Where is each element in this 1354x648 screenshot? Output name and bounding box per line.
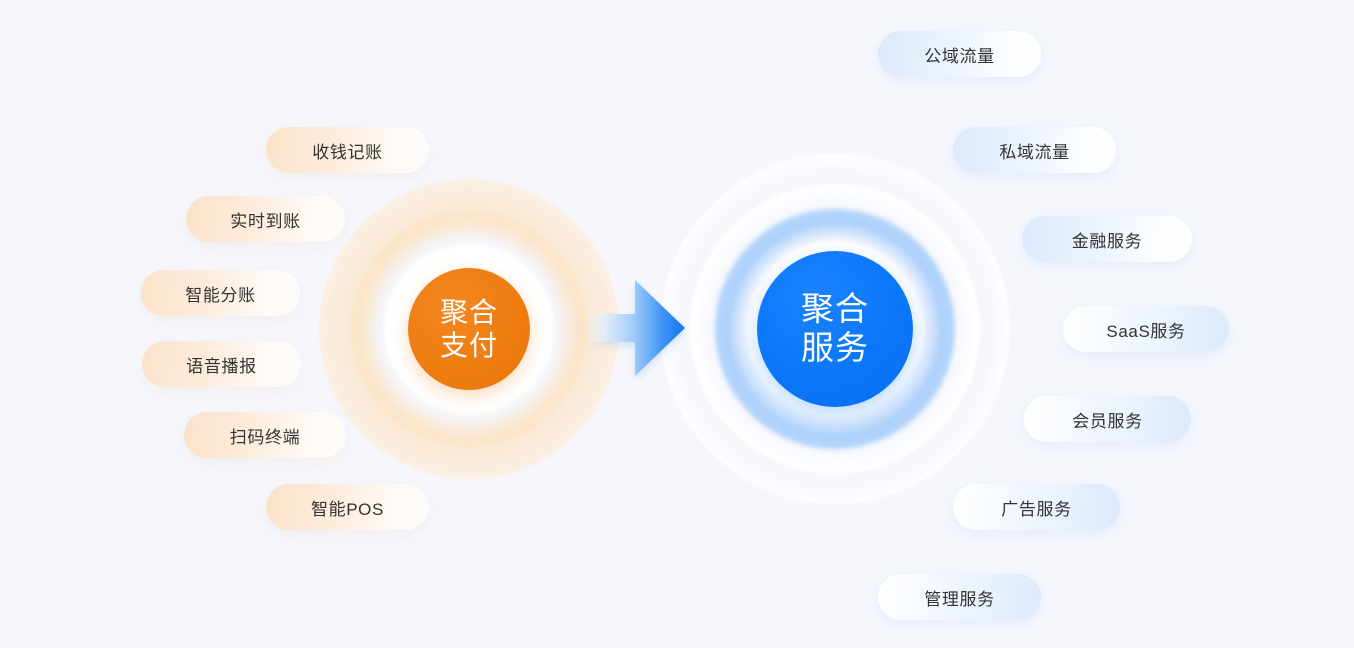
pill-label: 金融服务 [1072, 227, 1142, 252]
service-pill-huiyuanfuwu[interactable]: 会员服务 [1024, 396, 1191, 442]
service-hub-label-line1: 聚合 [801, 290, 869, 329]
capability-pill-zhinengfenzhang[interactable]: 智能分账 [141, 270, 300, 316]
capability-pill-shouqianjizhang[interactable]: 收钱记账 [266, 127, 429, 173]
pill-label: 广告服务 [1001, 495, 1071, 520]
pill-label: 私域流量 [999, 138, 1069, 163]
aggregated-service-hub[interactable]: 聚合 服务 [757, 251, 913, 407]
service-pill-jinrongfuwu[interactable]: 金融服务 [1022, 216, 1192, 262]
diagram-canvas: 聚合 支付 聚合 服务 收钱记账 [0, 0, 1354, 648]
service-pill-guanlifuwu[interactable]: 管理服务 [878, 574, 1041, 620]
pill-label: 实时到账 [230, 207, 300, 232]
capability-pill-shishidaozhang[interactable]: 实时到账 [186, 196, 345, 242]
payment-hub-label-line2: 支付 [440, 329, 498, 362]
service-pill-gongyuliuliang[interactable]: 公域流量 [878, 31, 1041, 77]
service-hub-label-line2: 服务 [801, 329, 869, 368]
pill-label: SaaS服务 [1106, 317, 1185, 342]
pill-label: 会员服务 [1072, 407, 1142, 432]
pill-label: 收钱记账 [312, 138, 382, 163]
service-pill-siyuliuliang[interactable]: 私域流量 [953, 127, 1116, 173]
pill-label: 管理服务 [924, 585, 994, 610]
payment-hub-label: 聚合 支付 [440, 296, 498, 362]
pill-label: 智能POS [311, 495, 384, 520]
service-pill-saasfuwu[interactable]: SaaS服务 [1063, 306, 1229, 352]
service-pill-guanggaofuwu[interactable]: 广告服务 [953, 484, 1120, 530]
capability-pill-saomazhongduan[interactable]: 扫码终端 [184, 412, 346, 458]
capability-pill-zhinengpos[interactable]: 智能POS [266, 484, 429, 530]
capability-pill-yuyinbobao[interactable]: 语音播报 [142, 341, 301, 387]
flow-arrow-right-icon [583, 276, 687, 380]
service-hub-label: 聚合 服务 [801, 290, 869, 368]
pill-label: 智能分账 [185, 281, 255, 306]
aggregated-payment-hub[interactable]: 聚合 支付 [408, 268, 530, 390]
payment-hub-label-line1: 聚合 [440, 296, 498, 329]
pill-label: 扫码终端 [230, 423, 300, 448]
pill-label: 公域流量 [924, 42, 994, 67]
pill-label: 语音播报 [186, 352, 256, 377]
